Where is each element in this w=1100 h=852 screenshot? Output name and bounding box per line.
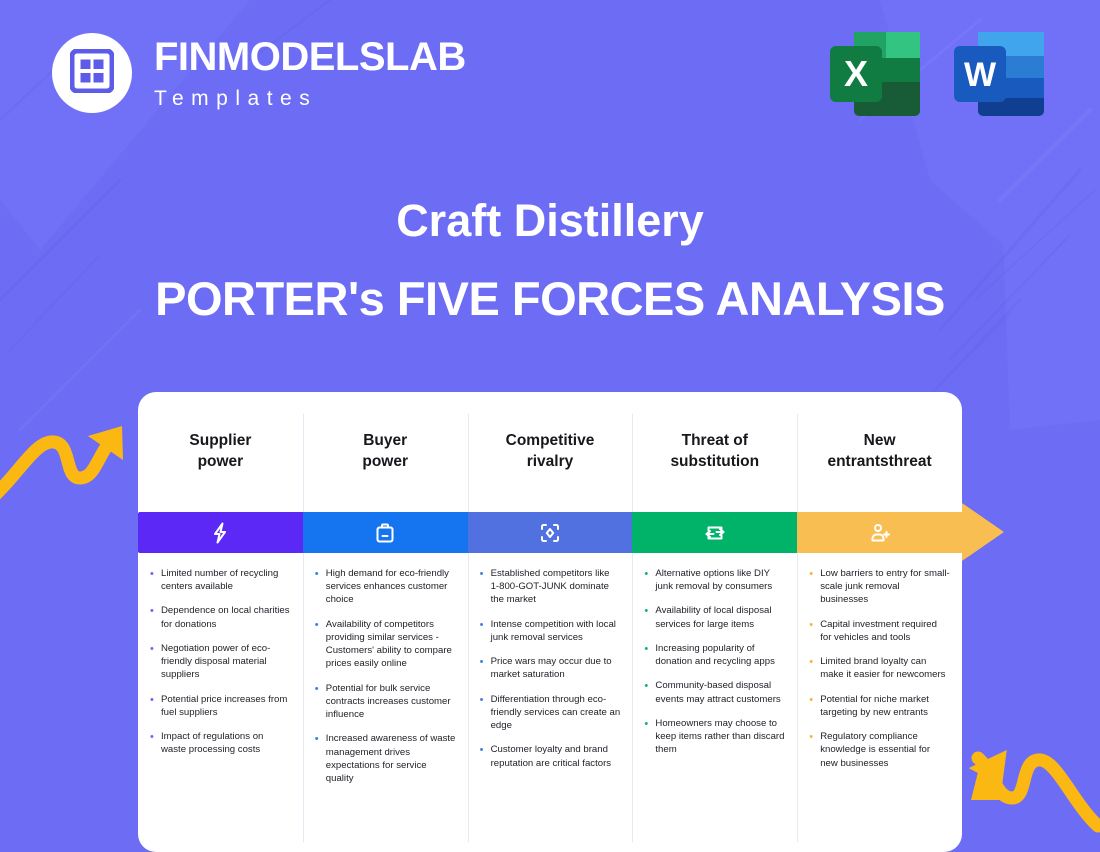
bullet-dot-icon: • bbox=[315, 732, 326, 785]
force-title-line-2: power bbox=[189, 452, 251, 473]
title-block: Craft Distillery PORTER's FIVE FORCES AN… bbox=[0, 196, 1100, 324]
force-bullet-item: • Low barriers to entry for small-scale … bbox=[809, 567, 950, 607]
force-bullet-item: •Impact of regulations on waste processi… bbox=[150, 730, 291, 756]
force-column-header: Newentrantsthreat bbox=[797, 392, 962, 512]
add-user-icon bbox=[868, 521, 892, 545]
force-column: Buyerpower• High demand for eco-friendly… bbox=[303, 392, 468, 852]
bullet-dot-icon: • bbox=[150, 567, 161, 593]
force-band bbox=[138, 512, 303, 553]
grid-2x2-icon bbox=[70, 49, 114, 98]
force-bullet-list: • Low barriers to entry for small-scale … bbox=[797, 553, 962, 852]
force-column-title: Competitiverivalry bbox=[506, 431, 595, 473]
bullet-dot-icon: • bbox=[480, 693, 491, 733]
lightning-bolt-icon bbox=[208, 521, 232, 545]
target-focus-icon bbox=[538, 521, 562, 545]
force-title-line-1: Supplier bbox=[189, 431, 251, 452]
force-bullet-item: •Potential for bulk service contracts in… bbox=[315, 682, 456, 722]
force-column-title: Threat ofsubstitution bbox=[670, 431, 759, 473]
force-bullet-text: Capital investment required for vehicles… bbox=[820, 618, 950, 644]
svg-text:W: W bbox=[964, 56, 997, 94]
force-bullet-list: • Alternative options like DIY junk remo… bbox=[632, 553, 797, 852]
force-bullet-text: Increased awareness of waste management … bbox=[326, 732, 456, 785]
force-bullet-text: Customer loyalty and brand reputation ar… bbox=[491, 743, 621, 769]
force-title-line-2: rivalry bbox=[506, 452, 595, 473]
force-bullet-text: Dependence on local charities for donati… bbox=[161, 604, 291, 630]
bullet-dot-icon: • bbox=[480, 567, 491, 607]
force-column: Supplierpower• Limited number of recycli… bbox=[138, 392, 303, 852]
force-bullet-text: Price wars may occur due to market satur… bbox=[491, 655, 621, 681]
svg-text:X: X bbox=[844, 53, 868, 94]
bullet-dot-icon: • bbox=[809, 655, 820, 681]
force-bullet-item: •Regulatory compliance knowledge is esse… bbox=[809, 730, 950, 770]
brand-header: FINMODELSLAB Templates bbox=[52, 33, 466, 113]
word-icon: W bbox=[952, 28, 1048, 120]
force-title-line-2: substitution bbox=[670, 452, 759, 473]
force-column: Threat ofsubstitution• Alternative optio… bbox=[632, 392, 797, 852]
force-bullet-item: •Established competitors like 1-800-GOT-… bbox=[480, 567, 621, 607]
force-column-title: Buyerpower bbox=[362, 431, 408, 473]
force-bullet-text: Impact of regulations on waste processin… bbox=[161, 730, 291, 756]
force-bullet-text: Limited brand loyalty can make it easier… bbox=[820, 655, 950, 681]
force-band bbox=[632, 512, 797, 553]
page-title: Craft Distillery bbox=[0, 196, 1100, 246]
bullet-dot-icon: • bbox=[809, 730, 820, 770]
force-bullet-text: Established competitors like 1-800-GOT-J… bbox=[491, 567, 621, 607]
excel-icon: X bbox=[828, 28, 924, 120]
page-subtitle: PORTER's FIVE FORCES ANALYSIS bbox=[0, 273, 1100, 325]
squiggly-arrow-up-right-icon bbox=[0, 408, 127, 503]
force-band bbox=[468, 512, 633, 553]
force-bullet-text: Differentiation through eco-friendly ser… bbox=[491, 693, 621, 733]
force-bullet-item: • Limited number of recycling centers av… bbox=[150, 567, 291, 593]
force-bullet-item: •Dependence on local charities for donat… bbox=[150, 604, 291, 630]
force-title-line-2: power bbox=[362, 452, 408, 473]
force-bullet-item: •Intense competition with local junk rem… bbox=[480, 618, 621, 644]
force-title-line-1: Threat of bbox=[670, 431, 759, 452]
bullet-dot-icon: • bbox=[644, 604, 655, 630]
office-icons-group: X W bbox=[828, 28, 1048, 120]
force-bullet-text: Negotiation power of eco-friendly dispos… bbox=[161, 642, 291, 682]
force-bullet-item: •Homeowners may choose to keep items rat… bbox=[644, 717, 785, 757]
force-column-title: Newentrantsthreat bbox=[827, 431, 931, 473]
force-bullet-text: Potential for bulk service contracts inc… bbox=[326, 682, 456, 722]
force-bullet-text: Intense competition with local junk remo… bbox=[491, 618, 621, 644]
force-bullet-text: Potential price increases from fuel supp… bbox=[161, 693, 291, 719]
bullet-dot-icon: • bbox=[809, 618, 820, 644]
bullet-dot-icon: • bbox=[644, 679, 655, 705]
force-bullet-item: •Potential price increases from fuel sup… bbox=[150, 693, 291, 719]
force-bullet-text: Homeowners may choose to keep items rath… bbox=[655, 717, 785, 757]
force-bullet-item: •Price wars may occur due to market satu… bbox=[480, 655, 621, 681]
force-bullet-text: Increasing popularity of donation and re… bbox=[655, 642, 785, 668]
force-column: Newentrantsthreat• Low barriers to entry… bbox=[797, 392, 962, 852]
force-bullet-item: •Differentiation through eco-friendly se… bbox=[480, 693, 621, 733]
bullet-dot-icon: • bbox=[644, 567, 655, 593]
bullet-dot-icon: • bbox=[480, 743, 491, 769]
force-bullet-list: •Established competitors like 1-800-GOT-… bbox=[468, 553, 633, 852]
bullet-dot-icon: • bbox=[480, 655, 491, 681]
force-bullet-item: •Increased awareness of waste management… bbox=[315, 732, 456, 785]
force-band bbox=[303, 512, 468, 553]
force-bullet-text: High demand for eco-friendly services en… bbox=[326, 567, 456, 607]
force-bullet-text: Limited number of recycling centers avai… bbox=[161, 567, 291, 593]
porters-five-forces-card: Supplierpower• Limited number of recycli… bbox=[138, 392, 962, 852]
brand-subtitle: Templates bbox=[154, 88, 466, 109]
force-bullet-item: •Availability of competitors providing s… bbox=[315, 618, 456, 671]
force-bullet-item: •Customer loyalty and brand reputation a… bbox=[480, 743, 621, 769]
force-bullet-item: • Alternative options like DIY junk remo… bbox=[644, 567, 785, 593]
force-bullet-text: Regulatory compliance knowledge is essen… bbox=[820, 730, 950, 770]
force-bullet-text: Community-based disposal events may attr… bbox=[655, 679, 785, 705]
force-band bbox=[797, 512, 962, 553]
force-bullet-item: •Availability of local disposal services… bbox=[644, 604, 785, 630]
bullet-dot-icon: • bbox=[150, 730, 161, 756]
force-bullet-text: Availability of competitors providing si… bbox=[326, 618, 456, 671]
squiggly-arrow-down-left-icon bbox=[965, 748, 1100, 843]
briefcase-icon bbox=[373, 521, 397, 545]
force-bullet-text: Low barriers to entry for small-scale ju… bbox=[820, 567, 950, 607]
brand-logo bbox=[52, 33, 132, 113]
force-bullet-text: Alternative options like DIY junk remova… bbox=[655, 567, 785, 593]
bullet-dot-icon: • bbox=[644, 642, 655, 668]
bullet-dot-icon: • bbox=[315, 682, 326, 722]
bullet-dot-icon: • bbox=[480, 618, 491, 644]
force-column-header: Supplierpower bbox=[138, 392, 303, 512]
force-bullet-item: •Negotiation power of eco-friendly dispo… bbox=[150, 642, 291, 682]
bullet-dot-icon: • bbox=[644, 717, 655, 757]
force-bullet-item: •Potential for niche market targeting by… bbox=[809, 693, 950, 719]
force-title-line-1: Buyer bbox=[362, 431, 408, 452]
force-column: Competitiverivalry•Established competito… bbox=[468, 392, 633, 852]
bullet-dot-icon: • bbox=[315, 618, 326, 671]
bullet-dot-icon: • bbox=[150, 642, 161, 682]
bullet-dot-icon: • bbox=[809, 693, 820, 719]
force-bullet-item: •Capital investment required for vehicle… bbox=[809, 618, 950, 644]
bullet-dot-icon: • bbox=[150, 604, 161, 630]
force-bullet-text: Availability of local disposal services … bbox=[655, 604, 785, 630]
force-bullet-item: •Limited brand loyalty can make it easie… bbox=[809, 655, 950, 681]
force-title-line-1: New bbox=[827, 431, 931, 452]
force-column-header: Buyerpower bbox=[303, 392, 468, 512]
force-bullet-list: • High demand for eco-friendly services … bbox=[303, 553, 468, 852]
force-title-line-1: Competitive bbox=[506, 431, 595, 452]
band-arrowhead-icon bbox=[962, 503, 1004, 561]
bullet-dot-icon: • bbox=[315, 567, 326, 607]
force-column-title: Supplierpower bbox=[189, 431, 251, 473]
exchange-arrows-icon bbox=[703, 521, 727, 545]
bullet-dot-icon: • bbox=[150, 693, 161, 719]
force-title-line-2: entrantsthreat bbox=[827, 452, 931, 473]
force-column-header: Threat ofsubstitution bbox=[632, 392, 797, 512]
force-column-header: Competitiverivalry bbox=[468, 392, 633, 512]
force-bullet-text: Potential for niche market targeting by … bbox=[820, 693, 950, 719]
force-bullet-item: •Community-based disposal events may att… bbox=[644, 679, 785, 705]
force-bullet-item: • High demand for eco-friendly services … bbox=[315, 567, 456, 607]
forces-grid: Supplierpower• Limited number of recycli… bbox=[138, 392, 962, 852]
bullet-dot-icon: • bbox=[809, 567, 820, 607]
force-bullet-item: •Increasing popularity of donation and r… bbox=[644, 642, 785, 668]
force-bullet-list: • Limited number of recycling centers av… bbox=[138, 553, 303, 852]
brand-name: FINMODELSLAB bbox=[154, 37, 466, 77]
